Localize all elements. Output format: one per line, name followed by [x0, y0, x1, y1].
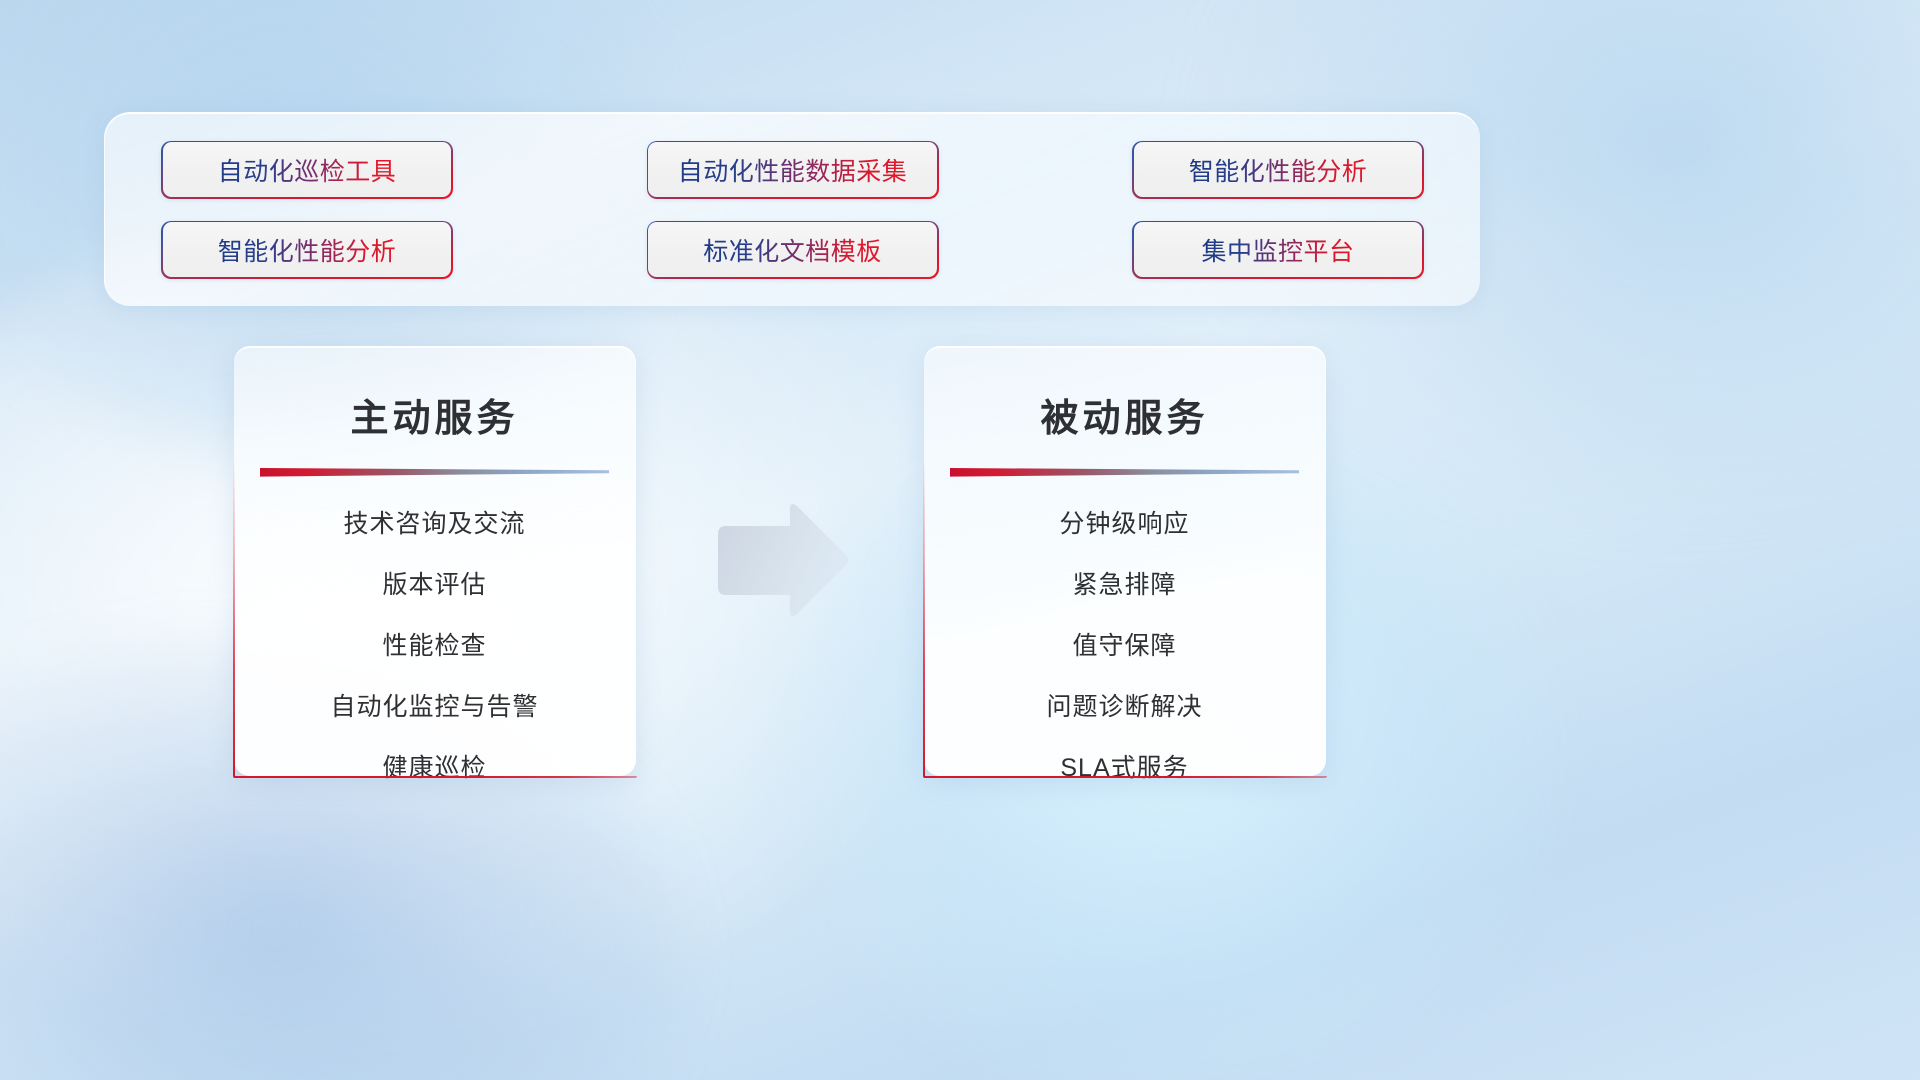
capability-chip[interactable]: 标准化文档模板	[647, 221, 939, 279]
page-background: 自动化巡检工具 自动化性能数据采集 智能化性能分析 智能化性能分析	[0, 0, 1920, 1080]
capability-chip-label: 自动化巡检工具	[218, 152, 397, 188]
service-item: 版本评估	[382, 573, 486, 598]
service-item: 技术咨询及交流	[343, 512, 525, 537]
divider-wedge-icon	[260, 468, 609, 478]
service-item: 性能检查	[382, 634, 486, 659]
capability-chip-label: 自动化性能数据采集	[678, 152, 908, 188]
service-card-item-list: 技术咨询及交流 版本评估 性能检查 自动化监控与告警 健康巡检	[234, 512, 635, 781]
capability-chip-inner: 标准化文档模板	[648, 222, 937, 277]
service-card-title: 被动服务	[924, 387, 1325, 442]
capability-chip[interactable]: 自动化性能数据采集	[647, 141, 939, 199]
capability-chip-label: 智能化性能分析	[1189, 152, 1368, 188]
service-item: 健康巡检	[382, 756, 486, 781]
capability-chip-inner: 集中监控平台	[1134, 222, 1423, 277]
capability-chip-label: 标准化文档模板	[703, 232, 882, 268]
capabilities-row-2: 智能化性能分析 标准化文档模板 集中监控平台	[161, 221, 1424, 279]
capability-chip[interactable]: 自动化巡检工具	[161, 141, 453, 199]
service-item: 分钟级响应	[1059, 512, 1189, 537]
capability-chip-inner: 智能化性能分析	[163, 222, 452, 277]
service-item: 值守保障	[1072, 634, 1176, 659]
capabilities-panel: 自动化巡检工具 自动化性能数据采集 智能化性能分析 智能化性能分析	[104, 112, 1480, 306]
service-card-divider	[950, 468, 1299, 478]
right-arrow-icon	[712, 500, 852, 622]
capability-chip-inner: 自动化性能数据采集	[648, 142, 937, 197]
divider-wedge-icon	[950, 468, 1299, 478]
capability-chip[interactable]: 集中监控平台	[1132, 221, 1424, 279]
capability-chip-inner: 自动化巡检工具	[163, 142, 452, 197]
service-item: 紧急排障	[1072, 573, 1176, 598]
capability-chip[interactable]: 智能化性能分析	[161, 221, 453, 279]
service-item: SLA式服务	[1060, 756, 1188, 781]
capability-chip-label: 集中监控平台	[1201, 232, 1354, 268]
capability-chip[interactable]: 智能化性能分析	[1132, 141, 1424, 199]
capabilities-row-1: 自动化巡检工具 自动化性能数据采集 智能化性能分析	[161, 141, 1424, 199]
capability-chip-inner: 智能化性能分析	[1134, 142, 1423, 197]
service-card-divider	[260, 468, 609, 478]
service-item: 自动化监控与告警	[330, 695, 538, 720]
capability-chip-label: 智能化性能分析	[218, 232, 397, 268]
service-item: 问题诊断解决	[1046, 695, 1202, 720]
service-card-item-list: 分钟级响应 紧急排障 值守保障 问题诊断解决 SLA式服务	[924, 512, 1325, 781]
service-card-reactive: 被动服务 分钟级响应 紧急排障 值守保障	[924, 346, 1326, 776]
service-card-proactive: 主动服务 技术咨询及交流 版本评估 性能检查	[234, 346, 636, 776]
service-card-title: 主动服务	[234, 387, 635, 442]
